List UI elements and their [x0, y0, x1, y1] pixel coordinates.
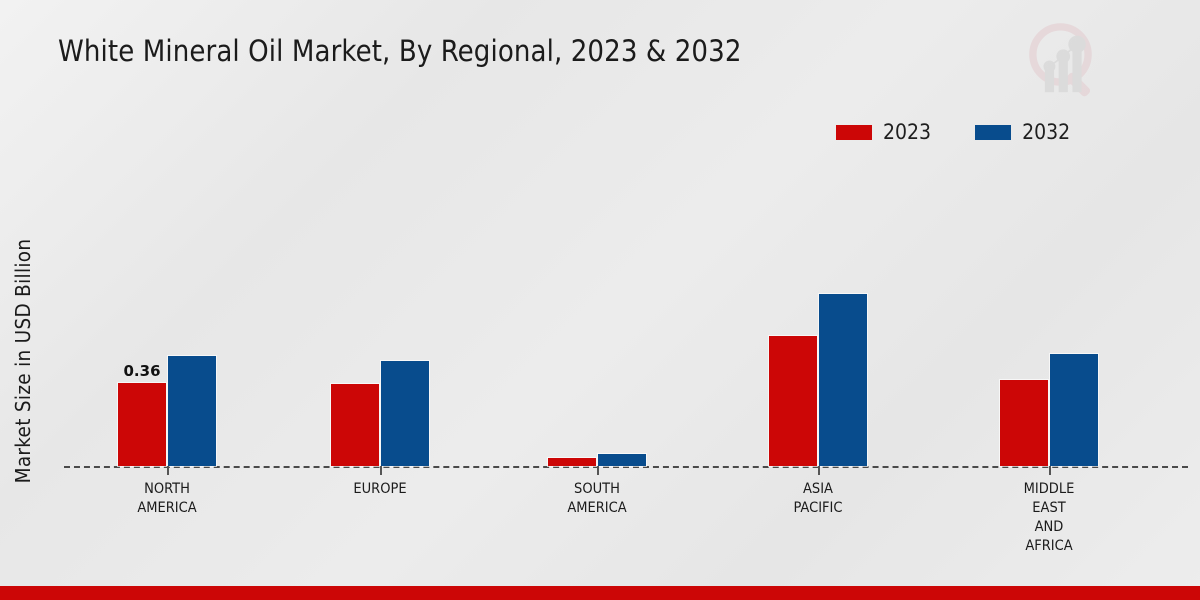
y-axis-title: Market Size in USD Billion — [11, 196, 35, 526]
bar-2032[interactable] — [168, 356, 216, 466]
x-axis-baseline — [64, 466, 1188, 468]
bar-2032[interactable] — [381, 361, 429, 466]
x-axis-tick — [1049, 466, 1051, 475]
legend-swatch-2023 — [836, 125, 872, 140]
bar-2032[interactable] — [819, 294, 867, 466]
bar-group — [758, 150, 878, 466]
chart-legend: 20232032 — [836, 120, 1070, 144]
legend-swatch-2032 — [975, 125, 1011, 140]
bar-2023[interactable] — [769, 336, 817, 466]
bar-2023[interactable] — [331, 384, 379, 466]
magnifier-bar-chart-logo-icon — [1020, 14, 1112, 106]
bar-group: 0.36 — [107, 150, 227, 466]
legend-label-2032: 2032 — [1022, 120, 1070, 144]
bar-value-label: 0.36 — [123, 362, 160, 380]
legend-label-2023: 2023 — [883, 120, 931, 144]
x-axis-category-label: ASIAPACIFIC — [718, 480, 918, 518]
bar-group — [989, 150, 1109, 466]
x-axis-tick — [597, 466, 599, 475]
bar-group — [320, 150, 440, 466]
bottom-accent-strip — [0, 586, 1200, 600]
x-axis-category-label: SOUTHAMERICA — [497, 480, 697, 518]
plot-area: 0.36NORTHAMERICAEUROPESOUTHAMERICAASIAPA… — [40, 150, 1188, 468]
bar-2032[interactable] — [598, 454, 646, 466]
legend-item-2032[interactable]: 2032 — [975, 120, 1070, 144]
chart-page: White Mineral Oil Market, By Regional, 2… — [0, 0, 1200, 600]
x-axis-tick — [818, 466, 820, 475]
x-axis-category-label: MIDDLEEASTANDAFRICA — [949, 480, 1149, 556]
bar-2023[interactable] — [1000, 380, 1048, 466]
legend-item-2023[interactable]: 2023 — [836, 120, 931, 144]
bar-group — [537, 150, 657, 466]
x-axis-tick — [167, 466, 169, 475]
bar-2032[interactable] — [1050, 354, 1098, 466]
bar-2023[interactable]: 0.36 — [118, 383, 166, 466]
x-axis-category-label: EUROPE — [280, 480, 480, 499]
page-title: White Mineral Oil Market, By Regional, 2… — [58, 34, 742, 68]
x-axis-category-label: NORTHAMERICA — [67, 480, 267, 518]
x-axis-tick — [380, 466, 382, 475]
bar-2023[interactable] — [548, 458, 596, 466]
